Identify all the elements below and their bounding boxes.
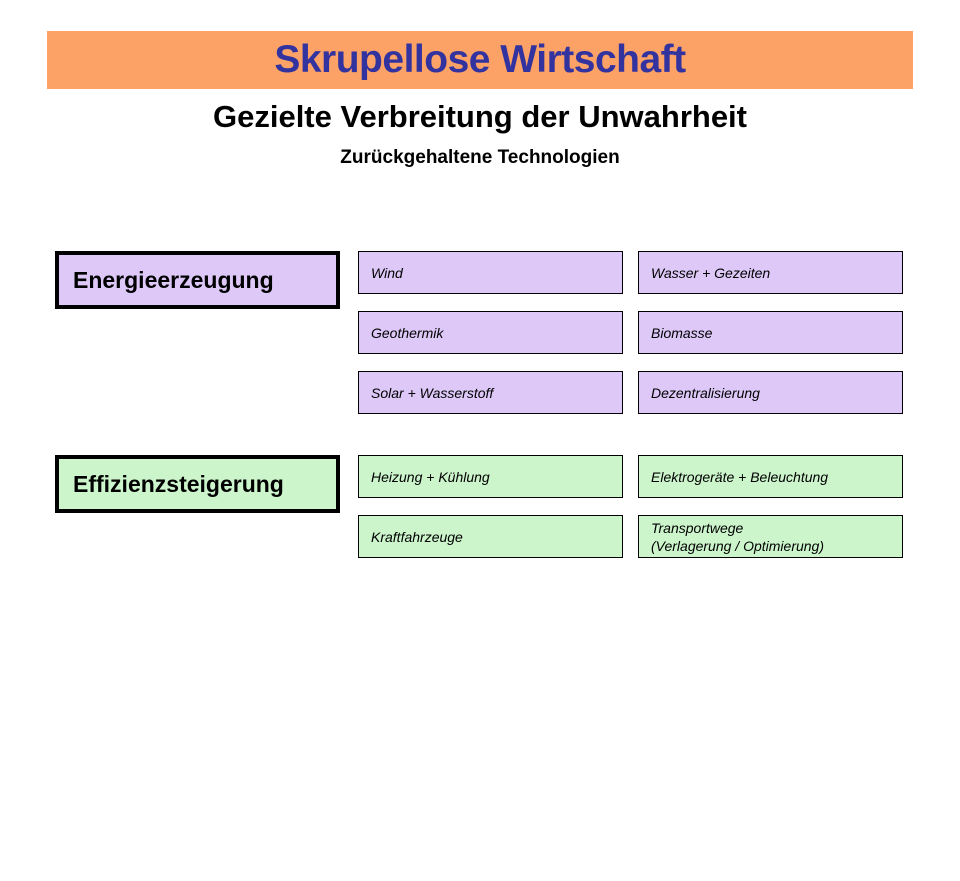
category-label: Effizienzsteigerung [73,471,284,498]
item-box-wasser-gezeiten: Wasser + Gezeiten [638,251,903,294]
item-label: Geothermik [371,324,622,342]
subtitle-main: Gezielte Verbreitung der Unwahrheit [0,99,960,135]
title-banner: Skrupellose Wirtschaft [47,31,913,89]
category-box-effizienzsteigerung: Effizienzsteigerung [55,455,340,513]
item-box-solar-wasserstoff: Solar + Wasserstoff [358,371,623,414]
item-label: Biomasse [651,324,902,342]
item-label: Dezentralisierung [651,384,902,402]
item-label: Elektrogeräte + Beleuchtung [651,468,902,486]
item-box-transportwege: Transportwege (Verlagerung / Optimierung… [638,515,903,558]
item-box-geothermik: Geothermik [358,311,623,354]
item-box-kraftfahrzeuge: Kraftfahrzeuge [358,515,623,558]
item-box-biomasse: Biomasse [638,311,903,354]
item-label-line2: (Verlagerung / Optimierung) [651,537,902,555]
item-box-elektrogeraete-beleuchtung: Elektrogeräte + Beleuchtung [638,455,903,498]
item-box-dezentralisierung: Dezentralisierung [638,371,903,414]
page-title: Skrupellose Wirtschaft [47,31,913,89]
item-label-line1: Transportwege [651,519,902,537]
subtitle-sub: Zurückgehaltene Technologien [0,147,960,169]
item-label: Wind [371,264,622,282]
category-label: Energieerzeugung [73,267,274,294]
item-label: Solar + Wasserstoff [371,384,622,402]
category-box-energieerzeugung: Energieerzeugung [55,251,340,309]
item-label: Heizung + Kühlung [371,468,622,486]
item-box-heizung-kuehlung: Heizung + Kühlung [358,455,623,498]
item-box-wind: Wind [358,251,623,294]
item-label: Kraftfahrzeuge [371,528,622,546]
item-label: Wasser + Gezeiten [651,264,902,282]
